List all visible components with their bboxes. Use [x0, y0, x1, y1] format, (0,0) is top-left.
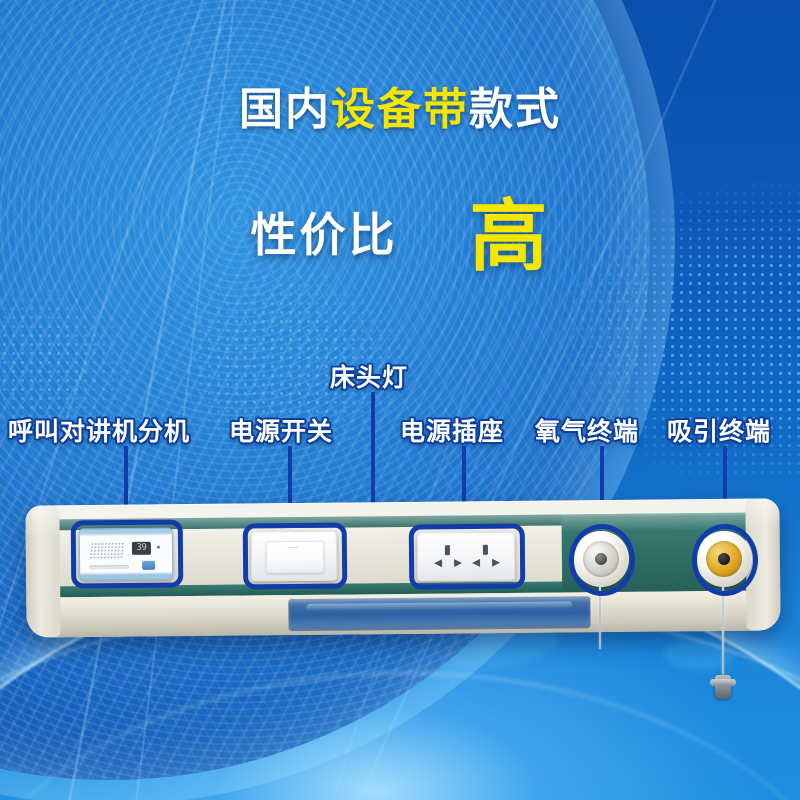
- callout-label-bedlamp: 床头灯: [330, 358, 408, 394]
- headline-line-2: 性价比高: [0, 162, 800, 274]
- highlight-box-socket: [409, 523, 526, 589]
- highlight-box-power-switch: [243, 523, 348, 590]
- suction-cord: [722, 583, 724, 687]
- promo-banner: 国内设备带款式 性价比高 呼叫对讲机分机 电源开关 床头灯 电源插座 氧气终端 …: [0, 0, 800, 800]
- headline-line-1: 国内设备带款式: [0, 84, 800, 136]
- callout-label-power-switch: 电源开关: [229, 412, 333, 448]
- callout-label-oxygen: 氧气终端: [535, 412, 639, 448]
- callout-label-suction: 吸引终端: [667, 412, 771, 448]
- panel-end-cap-left: [25, 505, 60, 637]
- headline-text-part-3: 款式: [469, 84, 561, 135]
- subheadline-highlight-char: 高: [469, 192, 549, 282]
- highlight-box-intercom: [71, 519, 184, 588]
- callout-label-intercom: 呼叫对讲机分机: [8, 412, 190, 448]
- suction-probe-plug: [715, 675, 731, 699]
- subheadline-text: 性价比: [250, 208, 397, 262]
- headline-text-part-1: 国内: [239, 84, 331, 135]
- callout-label-socket: 电源插座: [400, 412, 504, 448]
- bedlamp-diffuser: [288, 596, 590, 631]
- headline-text-part-2-highlight: 设备带: [331, 84, 469, 135]
- highlight-circle-oxygen: [569, 524, 636, 597]
- highlight-circle-suction: [692, 524, 759, 597]
